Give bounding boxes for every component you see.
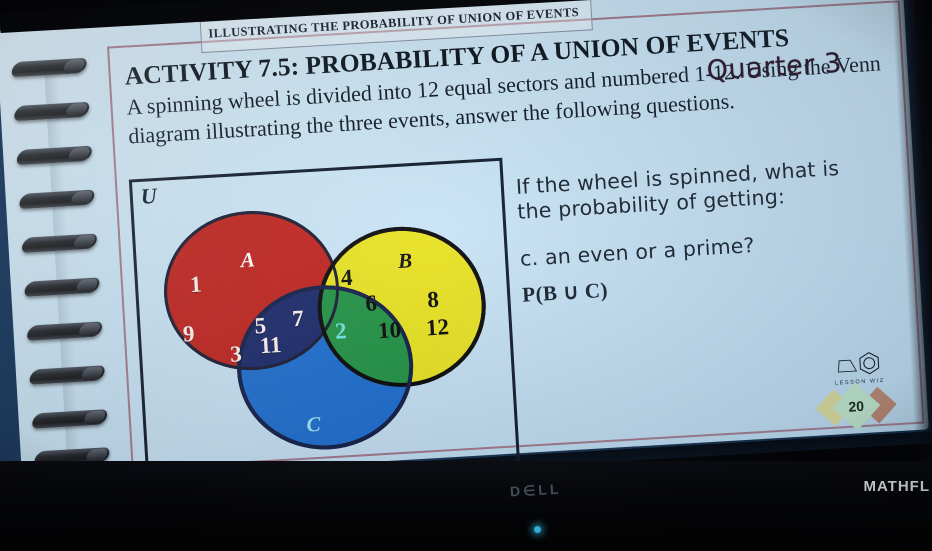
binding-ring xyxy=(25,321,104,341)
brand-wordmark: MATHFL xyxy=(863,478,930,495)
binding-ring xyxy=(22,277,101,297)
monitor-photo: ILLUSTRATING THE PROBABILITY OF UNION OF… xyxy=(0,0,932,551)
brand-logo: ⏢⏣ LESSON WIZ xyxy=(798,347,920,389)
binding-ring xyxy=(28,365,107,385)
graduation-cap-icon: ⏢⏣ xyxy=(798,347,919,380)
binding-ring xyxy=(20,233,99,253)
page-number-badge: 20 xyxy=(824,388,888,426)
probability-expression: P(B ∪ C) xyxy=(522,261,895,308)
slide-border: ILLUSTRATING THE PROBABILITY OF UNION OF… xyxy=(0,0,932,486)
question-column: If the wheel is spinned, what is the pro… xyxy=(515,153,894,308)
binding-ring xyxy=(30,409,109,429)
binding-ring xyxy=(12,102,91,122)
venn-diagram: U xyxy=(129,158,520,485)
slide-container: ILLUSTRATING THE PROBABILITY OF UNION OF… xyxy=(0,0,932,502)
power-led-indicator xyxy=(534,526,541,533)
monitor-brand-logo: D∈LL xyxy=(510,481,562,501)
slide-page: ILLUSTRATING THE PROBABILITY OF UNION OF… xyxy=(0,0,929,482)
venn-svg xyxy=(132,161,517,482)
venn-stage: A B C 1 9 5 7 3 11 4 xyxy=(132,161,517,482)
page-number: 20 xyxy=(848,398,864,415)
binding-ring xyxy=(10,58,89,78)
binding-ring xyxy=(15,146,94,166)
spiral-binding xyxy=(7,51,123,468)
binding-ring xyxy=(17,189,96,209)
content-card: ILLUSTRATING THE PROBABILITY OF UNION OF… xyxy=(107,0,924,470)
monitor-bezel-bottom xyxy=(0,461,932,551)
